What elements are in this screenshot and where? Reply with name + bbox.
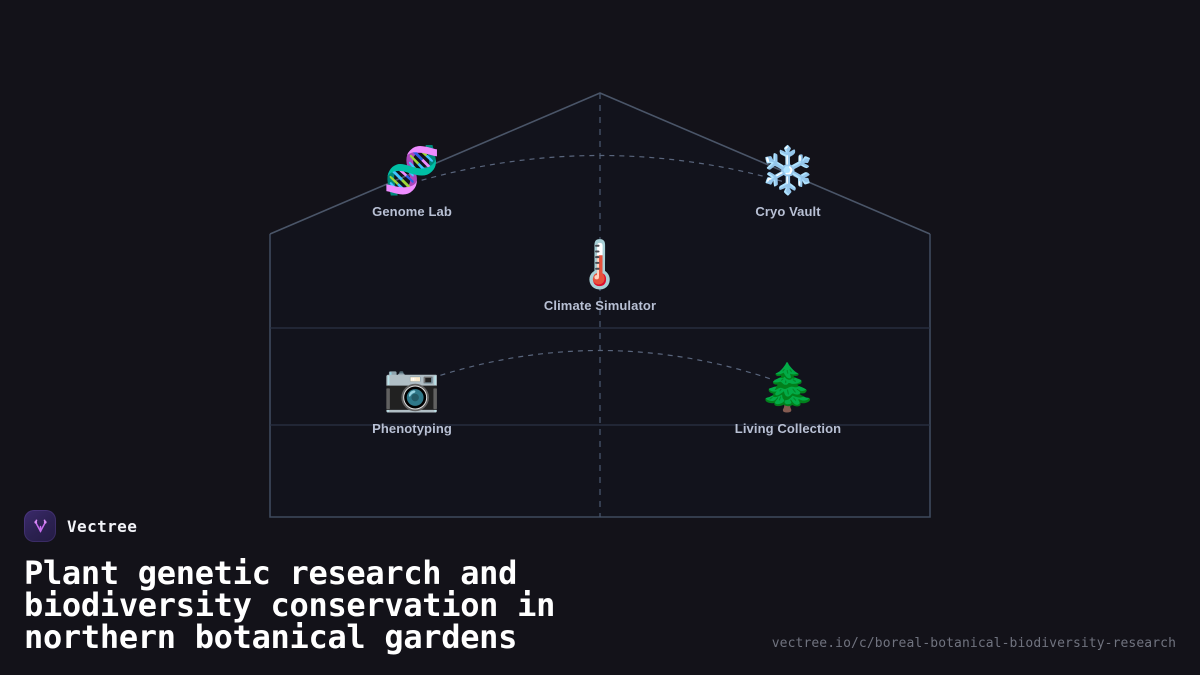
node-label-cryo-vault: Cryo Vault: [755, 204, 820, 219]
node-phenotyping[interactable]: 📷 Phenotyping: [327, 359, 497, 438]
vectree-tree-glyph-icon: [24, 510, 56, 542]
node-label-climate-simulator: Climate Simulator: [544, 298, 656, 313]
page-title: Plant genetic research and biodiversity …: [24, 557, 724, 653]
node-cryo-vault[interactable]: ❄️ Cryo Vault: [703, 142, 873, 221]
evergreen-tree-icon: 🌲: [703, 359, 873, 415]
thermometer-icon: 🌡️: [515, 236, 685, 292]
node-climate-simulator[interactable]: 🌡️ Climate Simulator: [515, 236, 685, 315]
brand-name: Vectree: [67, 517, 137, 536]
snowflake-icon: ❄️: [703, 142, 873, 198]
share-url: vectree.io/c/boreal-botanical-biodiversi…: [772, 636, 1176, 651]
camera-icon: 📷: [327, 359, 497, 415]
node-genome-lab[interactable]: 🧬 Genome Lab: [327, 142, 497, 221]
brand-row[interactable]: Vectree: [24, 510, 1176, 542]
node-label-phenotyping: Phenotyping: [372, 421, 452, 436]
node-living-collection[interactable]: 🌲 Living Collection: [703, 359, 873, 438]
node-label-genome-lab: Genome Lab: [372, 204, 452, 219]
dna-icon: 🧬: [327, 142, 497, 198]
node-label-living-collection: Living Collection: [735, 421, 841, 436]
